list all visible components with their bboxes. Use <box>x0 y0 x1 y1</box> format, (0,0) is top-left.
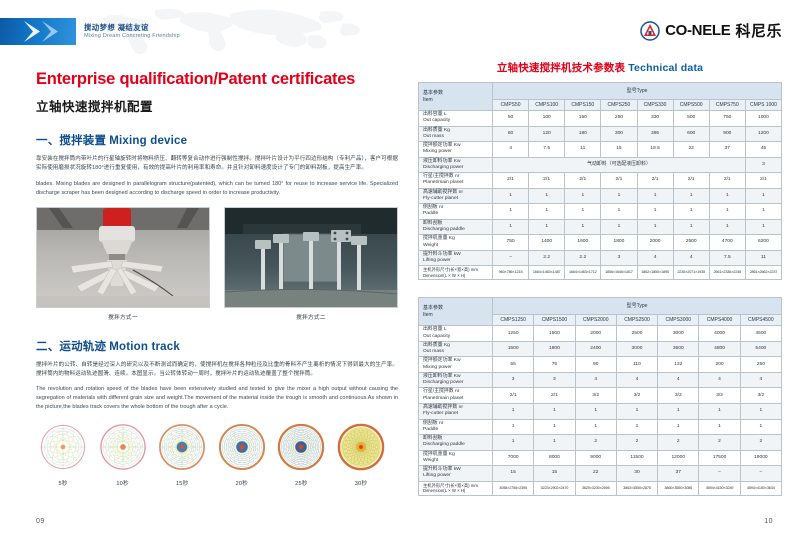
data-cell: 330 <box>637 111 673 127</box>
logo-wordmark: CO-NELE <box>665 22 730 39</box>
motion-track-diagram-10s <box>99 423 147 471</box>
data-cell: 3860×3550×3085 <box>658 481 699 495</box>
data-cell: 1 <box>745 188 781 204</box>
data-cell: 750 <box>709 111 745 127</box>
model-header-cell: CMPS3000 <box>658 315 699 326</box>
section-1-title-en: Mixing device <box>109 135 187 147</box>
data-cell: 2561×2336×2245 <box>709 266 745 280</box>
table-1-header-row: 基本参数 Item 型号Type <box>419 83 782 100</box>
data-cell: 1856×1646×1817 <box>601 266 637 280</box>
data-cell: 2/1 <box>529 173 565 189</box>
row-label-en: Planet/main planet <box>423 396 464 401</box>
motion-track-label: 5秒 <box>36 479 90 487</box>
data-cell: 132 <box>658 357 699 373</box>
row-label-cn: 侧刮板 nr <box>423 421 443 426</box>
row-label-cn: 搅拌机重量 Kg <box>423 452 455 457</box>
technical-data-table-2: 基本参数 Item 型号Type CMPS1250CMPS1500CMPS200… <box>418 297 782 495</box>
photo-caption-2: 搅拌方式二 <box>224 313 398 321</box>
row-label: 主机外形尺寸(长×宽×高) mmDimension(L × W × H) <box>419 266 493 280</box>
data-cell: 1500 <box>493 341 534 357</box>
model-header-cell: CMPS50 <box>493 100 529 111</box>
data-cell: 11500 <box>616 450 657 466</box>
row-label-en: Fly-cutter planet <box>423 411 458 416</box>
data-cell: 3 <box>745 157 781 173</box>
table-row: 搅拌机重量 KgWeight75014001600180020002500470… <box>419 235 782 251</box>
data-cell: 500 <box>673 111 709 127</box>
motion-track-diagram-20s <box>218 423 266 471</box>
model-header-cell: CMPS330 <box>637 100 673 111</box>
data-cell: 50 <box>493 111 529 127</box>
page-title: Enterprise qualification/Patent certific… <box>36 70 398 89</box>
data-cell: 2/1 <box>493 388 534 404</box>
motion-track-row: 5秒 <box>36 423 388 487</box>
brochure-page: 搅动梦想 凝结友谊 Mixing Dream Concreting Friend… <box>0 0 800 542</box>
section-1-title-cn: 一、搅拌装置 <box>36 135 106 147</box>
data-cell: 2/1 <box>493 173 529 189</box>
left-column: Enterprise qualification/Patent certific… <box>36 70 398 487</box>
data-cell: 900 <box>709 126 745 142</box>
data-cell: 37 <box>709 142 745 158</box>
technical-data-title-en: Technical data <box>628 62 703 74</box>
mixing-device-photo-2 <box>224 207 398 308</box>
data-cell: 1 <box>529 204 565 220</box>
data-cell: 3/2 <box>740 388 781 404</box>
motion-track-label: 30秒 <box>334 479 388 487</box>
data-cell: 7.5 <box>709 250 745 266</box>
table-1-type-header: 型号Type <box>493 83 782 100</box>
data-cell: 3600 <box>658 341 699 357</box>
row-label: 搅拌额定功率 KwMixing power <box>419 142 493 158</box>
technical-data-title-cn: 立轴快速搅拌机技术参数表 <box>497 62 625 74</box>
data-cell: 200 <box>699 357 740 373</box>
data-cell: 37 <box>658 466 699 482</box>
motion-track-item: 10秒 <box>96 423 150 487</box>
banner-text: 搅动梦想 凝结友谊 Mixing Dream Concreting Friend… <box>84 24 180 39</box>
table-2-header-row: 基本参数 Item 型号Type <box>419 298 782 315</box>
section-1-text-en: blades. Mixing blades are designed in pa… <box>36 180 398 198</box>
table-1-head: 基本参数 Item 型号Type CMPS50CMPS100CMPS150CMP… <box>419 83 782 111</box>
row-label-cn: 出料容量 L <box>423 112 447 117</box>
motion-track-item: 5秒 <box>36 423 90 487</box>
data-cell: 750 <box>493 235 529 251</box>
page-number-right: 10 <box>764 518 773 525</box>
table-row: 卸料刮板Discharging paddle11111111 <box>419 219 782 235</box>
row-label-cn: 搅拌额定功率 Kw <box>423 143 461 148</box>
row-label-en: Mixing power <box>423 365 452 370</box>
data-cell: 60 <box>493 126 529 142</box>
data-cell: 395 <box>637 126 673 142</box>
model-header-cell: CMPS500 <box>673 100 709 111</box>
data-cell: 2 <box>699 435 740 451</box>
row-label: 侧刮板 nrPaddle <box>419 419 493 435</box>
row-label-cn: 出料容量 L <box>423 327 447 332</box>
data-cell: 2 <box>575 435 616 451</box>
row-label: 搅拌额定功率 KwMixing power <box>419 357 493 373</box>
data-cell: 4 <box>616 372 657 388</box>
data-cell: 1 <box>673 188 709 204</box>
model-header-cell: CMPS4500 <box>740 315 781 326</box>
row-label-cn: 出料质量 Kg <box>423 128 450 133</box>
table-row: 高速辅助搅拌数 nrFly-cutter planet1111111 <box>419 403 782 419</box>
row-label: 行星/主搅拌数 nrPlanet/main planet <box>419 173 493 189</box>
technical-data-title: 立轴快速搅拌机技术参数表Technical data <box>418 60 782 75</box>
photo-caption-1: 搅拌方式一 <box>36 313 210 321</box>
data-cell: – <box>493 250 529 266</box>
data-cell: 4594×4150×3634 <box>740 481 781 495</box>
photo-row: 搅拌方式一 <box>36 207 398 321</box>
row-label-en: Out mass <box>423 134 444 139</box>
data-cell: 3223×2902×2470 <box>534 481 575 495</box>
row-label: 主机外形尺寸(长×宽×高) mmDimension(L × W × H) <box>419 481 493 495</box>
table-row: 提升料斗功率 kWLifting power–2.22.23447.511 <box>419 250 782 266</box>
section-1-title: 一、搅拌装置Mixing device <box>36 132 398 148</box>
data-cell: 1 <box>534 419 575 435</box>
motion-track-diagram-25s <box>277 423 325 471</box>
table-row: 卸料刮板Discharging paddle1122222 <box>419 435 782 451</box>
data-cell: – <box>699 466 740 482</box>
table-row: 提升料斗功率 kWLifting power1515223037–– <box>419 466 782 482</box>
data-cell: 100 <box>529 111 565 127</box>
section-2-title-en: Motion track <box>109 341 180 353</box>
data-cell: 2/1 <box>565 173 601 189</box>
data-cell: 11 <box>745 250 781 266</box>
data-cell: 2/1 <box>673 173 709 189</box>
row-label-cn: 提升料斗功率 kW <box>423 252 461 257</box>
model-header-cell: CMPS 1000 <box>745 100 781 111</box>
data-cell: 1 <box>740 403 781 419</box>
data-cell: 1500 <box>534 326 575 342</box>
row-label-cn: 主机外形尺寸(长×宽×高) mm <box>423 483 478 488</box>
row-label-en: Discharging power <box>423 165 464 170</box>
table-row: 主机外形尺寸(长×宽×高) mmDimension(L × W × H)3058… <box>419 481 782 495</box>
right-column: 立轴快速搅拌机技术参数表Technical data 基本参数 Item 型号T… <box>418 60 782 496</box>
data-cell: 1 <box>699 403 740 419</box>
data-cell: 22 <box>673 142 709 158</box>
model-header-cell: CMPS250 <box>601 100 637 111</box>
data-cell: 2235×2071×1935 <box>673 266 709 280</box>
row-label-en: Discharging paddle <box>423 227 465 232</box>
data-cell: 4000 <box>699 326 740 342</box>
row-label: 提升料斗功率 kWLifting power <box>419 466 493 482</box>
item-header-en: Item <box>423 312 433 318</box>
data-cell: 1 <box>745 204 781 220</box>
data-cell: 1 <box>601 188 637 204</box>
data-cell: 2000 <box>575 326 616 342</box>
data-cell: 2/1 <box>709 173 745 189</box>
data-cell: 1 <box>493 219 529 235</box>
row-label-cn: 高速辅助搅拌数 nr <box>423 405 463 410</box>
data-cell: 1 <box>534 403 575 419</box>
table-2-body: 出料容量 LOut capacity1250150020002500300040… <box>419 326 782 495</box>
data-cell: 2000 <box>637 235 673 251</box>
data-cell: 4500 <box>740 326 781 342</box>
row-label-en: Lifting power <box>423 258 451 263</box>
data-cell: 12000 <box>658 450 699 466</box>
data-cell: 300 <box>601 126 637 142</box>
row-label: 卸料刮板Discharging paddle <box>419 435 493 451</box>
data-cell: 18.5 <box>637 142 673 158</box>
row-label: 出料质量 KgOut mass <box>419 126 493 142</box>
data-cell: 1 <box>740 419 781 435</box>
motion-track-item: 30秒 <box>334 423 388 487</box>
row-label-en: Lifting power <box>423 473 451 478</box>
technical-data-table-1: 基本参数 Item 型号Type CMPS50CMPS100CMPS150CMP… <box>418 82 782 280</box>
page-subtitle: 立轴快速搅拌机配置 <box>36 96 398 115</box>
motion-track-item: 15秒 <box>155 423 209 487</box>
data-cell: 1664×1463×1712 <box>565 266 601 280</box>
table-row: 侧刮板 nrPaddle1111111 <box>419 419 782 435</box>
data-cell: 4800 <box>699 341 740 357</box>
item-header-cn: 基本参数 <box>423 90 443 96</box>
brand-banner: 搅动梦想 凝结友谊 Mixing Dream Concreting Friend… <box>0 18 176 45</box>
data-cell: 1000 <box>745 111 781 127</box>
data-cell: 75 <box>534 357 575 373</box>
row-label: 液压卸料功率 KwDischarging power <box>419 372 493 388</box>
logo-wordmark-cn: 科尼乐 <box>735 20 782 41</box>
table-row: 出料容量 LOut capacity5010015025033050075010… <box>419 111 782 127</box>
model-header-cell: CMPS100 <box>529 100 565 111</box>
data-cell: 3625×3230×2695 <box>575 481 616 495</box>
data-cell: 1 <box>673 219 709 235</box>
motion-track-diagram-5s <box>39 423 87 471</box>
row-label-en: Planet/main planet <box>423 180 464 185</box>
row-label: 出料容量 LOut capacity <box>419 326 493 342</box>
row-label-en: Out capacity <box>423 334 450 339</box>
model-header-cell: CMPS2500 <box>616 315 657 326</box>
table-row: 行星/主搅拌数 nrPlanet/main planet2/12/13/23/2… <box>419 388 782 404</box>
row-label: 搅拌机重量 KgWeight <box>419 450 493 466</box>
data-cell: 4 <box>740 372 781 388</box>
data-cell: 7000 <box>493 450 534 466</box>
table-row: 液压卸料功率 KwDischarging power3344444 <box>419 372 782 388</box>
model-header-cell: CMPS2000 <box>575 315 616 326</box>
data-cell: 3/2 <box>575 388 616 404</box>
page-number-left: 09 <box>36 518 45 525</box>
row-label-cn: 卸料刮板 <box>423 221 443 226</box>
row-label: 出料质量 KgOut mass <box>419 341 493 357</box>
table-row: 出料质量 KgOut mass601201803003956009001200 <box>419 126 782 142</box>
data-cell: 110 <box>616 357 657 373</box>
row-label: 提升料斗功率 kWLifting power <box>419 250 493 266</box>
data-cell: 1 <box>493 204 529 220</box>
section-2-title-cn: 二、运动轨迹 <box>36 341 106 353</box>
data-cell: 1 <box>529 188 565 204</box>
row-label: 高速辅助搅拌数 nrFly-cutter planet <box>419 188 493 204</box>
item-header-en: Item <box>423 97 433 103</box>
data-cell: 1 <box>709 188 745 204</box>
photo-item-1: 搅拌方式一 <box>36 207 210 321</box>
row-label: 搅拌机重量 KgWeight <box>419 235 493 251</box>
data-cell: 15 <box>493 466 534 482</box>
data-cell: 2.2 <box>529 250 565 266</box>
data-cell: 3 <box>601 250 637 266</box>
data-cell: 8000 <box>534 450 575 466</box>
data-cell: 15 <box>534 466 575 482</box>
row-label-en: Out mass <box>423 349 444 354</box>
row-label-cn: 卸料刮板 <box>423 436 443 441</box>
row-label-cn: 侧刮板 nr <box>423 205 443 210</box>
data-cell: 1 <box>637 219 673 235</box>
row-label-en: Weight <box>423 458 438 463</box>
merged-note-cell: 气动卸料（可选配液压卸料） <box>493 157 746 173</box>
data-cell: 120 <box>529 126 565 142</box>
data-cell: 1 <box>493 435 534 451</box>
data-cell: 17500 <box>699 450 740 466</box>
row-label-en: Fly-cutter planet <box>423 196 458 201</box>
data-cell: 1 <box>493 419 534 435</box>
data-cell: 2/1 <box>745 173 781 189</box>
data-cell: 1 <box>493 403 534 419</box>
data-cell: 9000 <box>575 450 616 466</box>
row-label-en: Discharging power <box>423 380 464 385</box>
data-cell: 180 <box>565 126 601 142</box>
motion-track-item: 20秒 <box>215 423 269 487</box>
data-cell: 1800 <box>601 235 637 251</box>
data-cell: 1 <box>529 219 565 235</box>
data-cell: 150 <box>565 111 601 127</box>
photo-item-2: 搅拌方式二 <box>224 207 398 321</box>
data-cell: 4 <box>673 250 709 266</box>
data-cell: 19000 <box>740 450 781 466</box>
row-label-en: Out capacity <box>423 118 450 123</box>
data-cell: 1 <box>745 219 781 235</box>
data-cell: 1 <box>709 204 745 220</box>
data-cell: 3 <box>493 372 534 388</box>
model-header-cell: CMPS1500 <box>534 315 575 326</box>
data-cell: 55 <box>493 357 534 373</box>
model-header-cell: CMPS750 <box>709 100 745 111</box>
item-header-cn: 基本参数 <box>423 305 443 311</box>
data-cell: 15 <box>601 142 637 158</box>
data-cell: 1664×1463×1487 <box>529 266 565 280</box>
data-cell: 4 <box>658 372 699 388</box>
data-cell: 22 <box>575 466 616 482</box>
data-cell: 11 <box>565 142 601 158</box>
table-1-body: 出料容量 LOut capacity5010015025033050075010… <box>419 111 782 280</box>
data-cell: 5400 <box>740 341 781 357</box>
data-cell: 4 <box>699 372 740 388</box>
data-cell: 4 <box>575 372 616 388</box>
row-label-cn: 搅拌机重量 Kg <box>423 236 455 241</box>
table-row: 搅拌机重量 KgWeight70008000900011500120001750… <box>419 450 782 466</box>
table-row: 行星/主搅拌数 nrPlanet/main planet2/12/12/12/1… <box>419 173 782 189</box>
data-cell: 1 <box>493 188 529 204</box>
row-label-cn: 出料质量 Kg <box>423 343 450 348</box>
data-cell: 1 <box>575 403 616 419</box>
data-cell: 3/2 <box>699 388 740 404</box>
row-label-en: Weight <box>423 243 438 248</box>
data-cell: 1862×1850×1895 <box>637 266 673 280</box>
data-cell: 250 <box>740 357 781 373</box>
data-cell: 1 <box>565 204 601 220</box>
data-cell: 1 <box>658 419 699 435</box>
data-cell: 2/1 <box>637 173 673 189</box>
table-row: 搅拌额定功率 KwMixing power557590110132200250 <box>419 357 782 373</box>
table-gap <box>418 280 782 297</box>
row-label-cn: 高速辅助搅拌数 nr <box>423 190 463 195</box>
data-cell: 960×786×1215 <box>493 266 529 280</box>
data-cell: 2500 <box>673 235 709 251</box>
data-cell: 1 <box>637 204 673 220</box>
row-label-en: Paddle <box>423 211 438 216</box>
data-cell: 1400 <box>529 235 565 251</box>
data-cell: 2 <box>658 435 699 451</box>
data-cell: 600 <box>673 126 709 142</box>
data-cell: 90 <box>575 357 616 373</box>
conele-logo-icon <box>640 21 660 41</box>
table-row: 出料容量 LOut capacity1250150020002500300040… <box>419 326 782 342</box>
motion-track-label: 10秒 <box>96 479 150 487</box>
data-cell: 1 <box>699 419 740 435</box>
data-cell: 1 <box>637 188 673 204</box>
data-cell: 2.2 <box>565 250 601 266</box>
data-cell: 2 <box>740 435 781 451</box>
data-cell: 1200 <box>745 126 781 142</box>
row-label-en: Mixing power <box>423 149 452 154</box>
data-cell: 2861×2662×2237 <box>745 266 781 280</box>
table-row: 液压卸料功率 KwDischarging power气动卸料（可选配液压卸料）3 <box>419 157 782 173</box>
table-1-item-header: 基本参数 Item <box>419 83 493 111</box>
data-cell: 4 <box>493 142 529 158</box>
data-cell: 1 <box>565 219 601 235</box>
model-header-cell: CMPS4000 <box>699 315 740 326</box>
motion-track-label: 25秒 <box>274 479 328 487</box>
row-label-en: Dimension(L × W × H) <box>423 273 465 278</box>
table-2-item-header: 基本参数 Item <box>419 298 493 326</box>
row-label: 出料容量 LOut capacity <box>419 111 493 127</box>
data-cell: 3/2 <box>616 388 657 404</box>
data-cell: 1600 <box>565 235 601 251</box>
data-cell: 3 <box>534 372 575 388</box>
data-cell: 1 <box>601 204 637 220</box>
data-cell: – <box>740 466 781 482</box>
data-cell: 2 <box>616 435 657 451</box>
data-cell: 1 <box>673 204 709 220</box>
data-cell: 3000 <box>616 341 657 357</box>
row-label: 高速辅助搅拌数 nrFly-cutter planet <box>419 403 493 419</box>
row-label-cn: 行星/主搅拌数 nr <box>423 389 459 394</box>
row-label-en: Dimension(L × W × H) <box>423 488 465 493</box>
mixing-device-photo-1 <box>36 207 210 308</box>
data-cell: 2500 <box>616 326 657 342</box>
table-row: 出料质量 KgOut mass1500180024003000360048005… <box>419 341 782 357</box>
motion-track-label: 15秒 <box>155 479 209 487</box>
data-cell: 1 <box>601 219 637 235</box>
row-label-cn: 搅拌额定功率 Kw <box>423 358 461 363</box>
banner-arrow-icon <box>0 18 76 45</box>
data-cell: 45 <box>745 142 781 158</box>
table-row: 主机外形尺寸(长×宽×高) mmDimension(L × W × H)960×… <box>419 266 782 280</box>
table-2-head: 基本参数 Item 型号Type CMPS1250CMPS1500CMPS200… <box>419 298 782 326</box>
data-cell: 3/2 <box>658 388 699 404</box>
data-cell: 3863×3550×2875 <box>616 481 657 495</box>
row-label: 卸料刮板Discharging paddle <box>419 219 493 235</box>
company-logo: CO-NELE 科尼乐 <box>640 20 782 41</box>
banner-slogan-cn: 搅动梦想 凝结友谊 <box>84 24 180 32</box>
data-cell: 4594×4150×3249 <box>699 481 740 495</box>
motion-track-diagram-30s <box>337 423 385 471</box>
data-cell: 6200 <box>745 235 781 251</box>
data-cell: 2/1 <box>601 173 637 189</box>
data-cell: 2400 <box>575 341 616 357</box>
motion-track-label: 20秒 <box>215 479 269 487</box>
row-label-cn: 液压卸料功率 Kw <box>423 374 461 379</box>
data-cell: 1 <box>658 403 699 419</box>
model-header-cell: CMPS150 <box>565 100 601 111</box>
data-cell: 30 <box>616 466 657 482</box>
section-2-title: 二、运动轨迹Motion track <box>36 338 398 354</box>
section-2-text-en: The revolution and rotation speed of the… <box>36 385 398 412</box>
